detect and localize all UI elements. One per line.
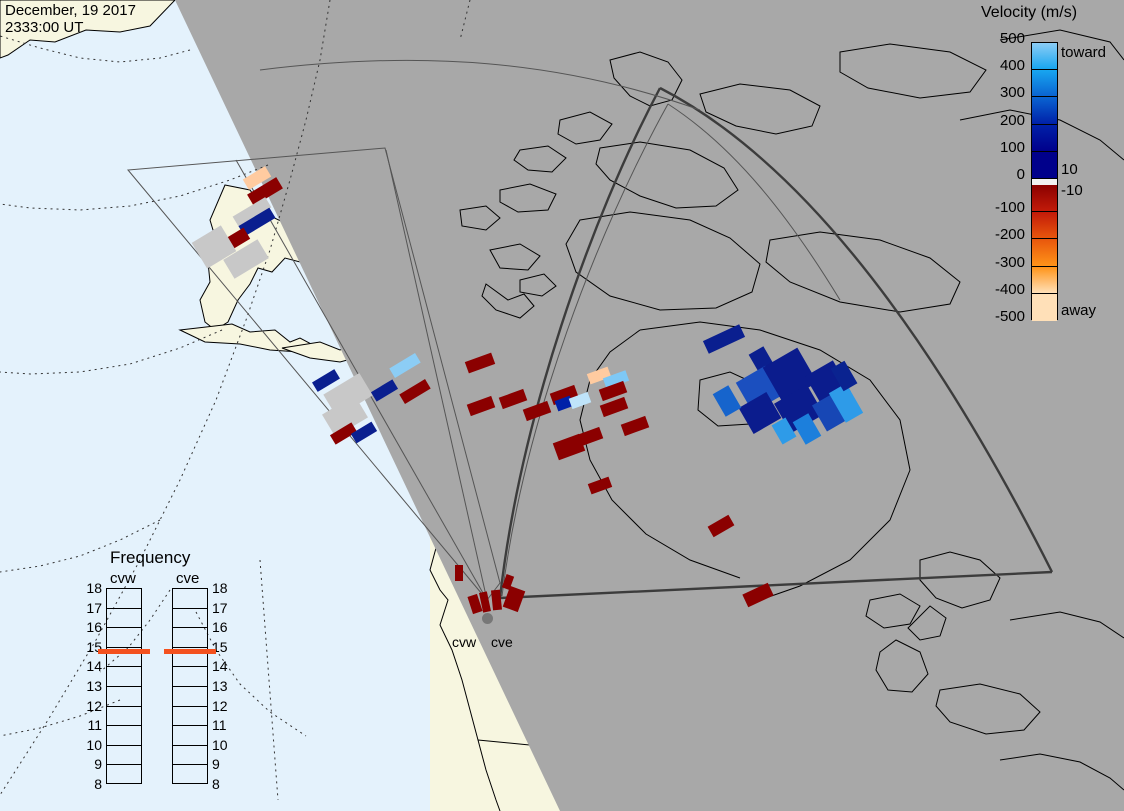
frequency-scale-label-left-8: 8 — [80, 776, 102, 792]
colorbar-segment-away-1 — [1032, 212, 1057, 239]
frequency-marker-cve — [164, 649, 216, 654]
colorbar-tick-0: 0 — [1017, 166, 1025, 183]
frequency-cell — [173, 707, 207, 727]
frequency-cell — [107, 707, 141, 727]
frequency-marker-cvw — [98, 649, 150, 654]
frequency-scale-label-right-11: 11 — [212, 717, 234, 733]
time-text: 2333:00 UT — [5, 19, 83, 36]
frequency-cell — [107, 609, 141, 629]
timestamp-label: December, 19 20172333:00 UT — [5, 2, 136, 36]
colorbar-tick-100: 100 — [1000, 139, 1025, 156]
velocity-cell — [713, 385, 742, 417]
velocity-cell — [503, 586, 526, 612]
frequency-scale-label-right-17: 17 — [212, 600, 234, 616]
velocity-cell — [553, 434, 585, 460]
frequency-cell — [107, 667, 141, 687]
velocity-cell — [371, 379, 398, 401]
velocity-cell — [742, 583, 773, 608]
colorbar-tick--200: -200 — [995, 226, 1025, 243]
colorbar-segment-toward-1 — [1032, 70, 1057, 97]
frequency-cell — [107, 726, 141, 746]
frequency-bar-cve — [172, 588, 208, 784]
velocity-cell — [621, 416, 650, 436]
frequency-cell — [107, 628, 141, 648]
colorbar-tick-400: 400 — [1000, 57, 1025, 74]
colorbar-tick-300: 300 — [1000, 84, 1025, 101]
frequency-scale-label-left-14: 14 — [80, 658, 102, 674]
velocity-cell — [491, 590, 502, 611]
colorbar-title: Velocity (m/s) — [981, 4, 1077, 22]
frequency-cell — [107, 589, 141, 609]
date-text: December, 19 2017 — [5, 2, 136, 19]
frequency-scale-label-left-11: 11 — [80, 717, 102, 733]
frequency-cell — [173, 765, 207, 785]
frequency-cell — [173, 589, 207, 609]
colorbar-tick-200: 200 — [1000, 112, 1025, 129]
colorbar-segment-toward-2 — [1032, 97, 1057, 124]
colorbar-gradient — [1031, 42, 1058, 320]
frequency-cell — [173, 726, 207, 746]
velocity-cell — [708, 515, 735, 537]
velocity-cell — [399, 379, 430, 404]
velocity-cell — [467, 396, 496, 416]
frequency-scale-label-right-16: 16 — [212, 619, 234, 635]
frequency-scale-label-left-17: 17 — [80, 600, 102, 616]
frequency-scale-label-left-10: 10 — [80, 737, 102, 753]
colorbar-tick--100: -100 — [995, 199, 1025, 216]
superdarn-map-view: December, 19 20172333:00 UT cvw cve Velo… — [0, 0, 1124, 811]
frequency-cell — [173, 746, 207, 766]
frequency-cell — [173, 628, 207, 648]
frequency-scale-label-left-9: 9 — [80, 756, 102, 772]
frequency-scale-label-right-18: 18 — [212, 580, 234, 596]
frequency-column-cvw: cvw — [110, 570, 136, 587]
velocity-cell — [465, 353, 495, 374]
colorbar-segment-away-2 — [1032, 239, 1057, 266]
velocity-cell — [523, 401, 552, 421]
colorbar-tick-500: 500 — [1000, 30, 1025, 47]
frequency-bar-cvw — [106, 588, 142, 784]
frequency-title: Frequency — [110, 548, 190, 568]
colorbar-lower-threshold-label: -10 — [1061, 182, 1083, 199]
colorbar-toward-label: toward — [1061, 44, 1106, 61]
colorbar-segment-away-4 — [1032, 294, 1057, 321]
colorbar-segment-away-3 — [1032, 267, 1057, 294]
frequency-cell — [107, 765, 141, 785]
colorbar-away-label: away — [1061, 302, 1096, 319]
site-label-cvw: cvw — [452, 634, 476, 650]
velocity-cell — [703, 324, 745, 354]
radar-site-marker — [482, 613, 493, 624]
frequency-cell — [173, 609, 207, 629]
frequency-scale-label-left-12: 12 — [80, 698, 102, 714]
frequency-cell — [107, 687, 141, 707]
velocity-cell — [389, 353, 420, 378]
colorbar-tick--300: -300 — [995, 254, 1025, 271]
frequency-scale-label-right-8: 8 — [212, 776, 234, 792]
frequency-cell — [173, 667, 207, 687]
frequency-scale-label-right-13: 13 — [212, 678, 234, 694]
frequency-scale-label-right-14: 14 — [212, 658, 234, 674]
frequency-scale-label-left-18: 18 — [80, 580, 102, 596]
frequency-scale-label-right-10: 10 — [212, 737, 234, 753]
frequency-scale-label-left-16: 16 — [80, 619, 102, 635]
frequency-scale-label-right-12: 12 — [212, 698, 234, 714]
velocity-cell — [499, 389, 528, 409]
colorbar-segment-toward-4 — [1032, 152, 1057, 179]
velocity-colorbar-panel: Velocity (m/s) 5004003002001000-100-200-… — [975, 0, 1124, 340]
colorbar-segment-toward-0 — [1032, 43, 1057, 70]
velocity-cell — [455, 565, 463, 581]
frequency-panel: Frequency cvw cve 18171615141312111098 1… — [88, 548, 248, 788]
colorbar-tick--500: -500 — [995, 308, 1025, 325]
velocity-cell — [588, 477, 612, 495]
colorbar-segment-toward-3 — [1032, 125, 1057, 152]
frequency-scale-label-left-13: 13 — [80, 678, 102, 694]
frequency-cell — [107, 746, 141, 766]
colorbar-tick--400: -400 — [995, 281, 1025, 298]
frequency-column-cve: cve — [176, 570, 199, 587]
site-label-cve: cve — [491, 634, 513, 650]
frequency-scale-label-right-9: 9 — [212, 756, 234, 772]
frequency-cell — [173, 687, 207, 707]
colorbar-upper-threshold-label: 10 — [1061, 161, 1078, 178]
colorbar-segment-away-0 — [1032, 185, 1057, 212]
